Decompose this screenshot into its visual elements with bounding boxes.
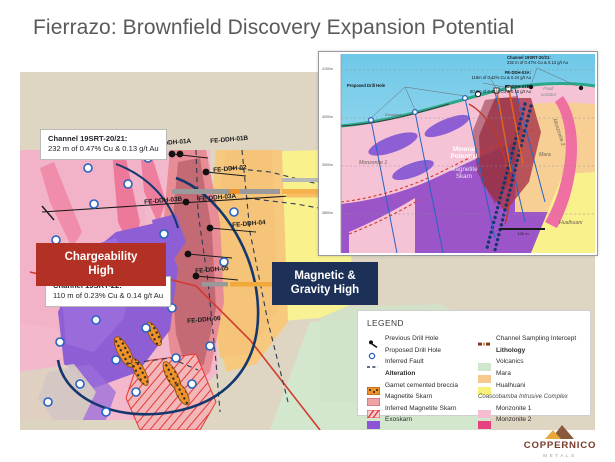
legend-item-proposed-drill-hole: Proposed Drill Hole [367,345,479,357]
axis-label-2: 3900m [322,163,333,167]
legend-label: Magnetite Skarn [385,393,432,400]
mountain-icon [538,424,582,440]
legend-item-garnet-cemented-breccia: Garnet cemented breccia [367,379,479,391]
badge-line-1: Magnetic & [294,270,355,282]
legend-item-magnetite-skarn: Magnetite Skarn [367,391,479,403]
badge-magnetic-gravity-high: Magnetic & Gravity High [272,262,378,305]
legend-label: Previous Drill Hole [385,335,438,342]
badge-line-2: Gravity High [291,284,359,296]
legend-label: Channel Sampling Intercept [496,335,576,342]
legend-item-inferred-fault: Inferred Fault [367,356,479,368]
legend-label: Monzonite 1 [496,405,531,412]
legend-heading: LEGEND [367,318,404,328]
legend-label: Garnet cemented breccia [385,382,458,389]
inset-unit-exoskarn: Exoskarn [385,112,402,117]
legend-label: Lithology [496,347,525,354]
legend-column-left: Previous Drill Hole Proposed Drill Hole … [367,333,479,426]
slide-root: Fierrazo: Brownfield Discovery Expansion… [0,0,615,462]
logo-name: COPPERNICO [520,441,600,451]
inset-scale-bar: 100 m [499,228,547,236]
inset-unit-hualhuani: Hualhuani [559,220,582,226]
badge-chargeability-high: Chargeability High [36,243,166,286]
legend-label: Alteration [385,370,415,377]
magnetite-swatch-icon [367,393,380,400]
callout-channel-19srt-20-21[interactable]: Channel 19SRT-20/21: 232 m of 0.47% Cu &… [40,129,167,160]
intercept-value: 50.8m of 0.44% Cu & 0.15 g/t Au [395,89,531,94]
volcanics-swatch-icon [478,358,491,365]
spacer [478,347,491,354]
logo-subtitle: METALS [520,453,600,458]
axis-label-0: 4100m [322,67,333,71]
callout-value: 110 m of 0.23% Cu & 0.14 g/t Au [53,291,163,301]
inset-proposed-drill-hole-label: Proposed Drill Hole [347,83,385,88]
inset-scale-bar-label: 100 m [499,231,547,236]
legend-label: Monzonite 2 [496,416,531,423]
legend-item-exoskarn: Exoskarn [367,414,479,426]
legend-label: Volcanics [496,358,523,365]
inset-intercept-fe-ddh-03a: FE-DDH-03A: 116m of 0.42% Cu & 0.24 g/t … [411,70,531,80]
inset-scale-bar-line [499,228,545,230]
legend-panel: LEGEND Previous Drill Hole Proposed Dril… [357,310,591,416]
mara-swatch-icon [478,370,491,377]
legend-header-alteration: Alteration [367,368,479,380]
legend-label: Exoskarn [385,416,412,423]
monzonite1-swatch-icon [478,405,491,412]
inset-magnetite-skarn-label: Magnetite Skarn [437,166,491,180]
channel-intercept-icon [478,335,491,342]
legend-item-channel-sampling-intercept: Channel Sampling Intercept [478,333,590,345]
dashed-line-icon [367,358,380,365]
legend-item-hualhuani: Hualhuani [478,379,590,391]
inset-fault-contact-label: Fault contact [541,86,556,97]
monzonite2-swatch-icon [478,416,491,423]
inset-unit-mara: Mara [539,152,551,158]
page-title: Fierrazo: Brownfield Discovery Expansion… [33,16,514,40]
badge-line-2: High [88,265,114,277]
inset-unit-monzonite-1: Monzonite 1 [359,160,387,166]
hatch-swatch-icon [367,405,380,412]
circle-icon [367,347,380,354]
legend-label: Inferred Magnetite Skarn [385,405,457,412]
axis-label-3: 3800m [322,211,333,215]
company-logo: COPPERNICO METALS [520,424,600,458]
legend-label: Mara [496,370,511,377]
legend-label: Inferred Fault [385,358,424,365]
legend-item-volcanics: Volcanics [478,356,590,368]
garnet-swatch-icon [367,382,380,389]
legend-label: Hualhuani [496,382,525,389]
legend-label: Proposed Drill Hole [385,347,441,354]
legend-item-monzonite-1: Monzonite 1 [478,403,590,415]
inset-mineral-potential-label: Mineral Potential [437,146,491,161]
exoskarn-swatch-icon [367,416,380,423]
inset-intercept-fe-ddh-03b: FE-DDH-03B: 50.8m of 0.44% Cu & 0.15 g/t… [395,84,531,94]
callout-value: 232 m of 0.47% Cu & 0.13 g/t Au [48,144,159,154]
inset-intercept-channel-19srt: Channel 19SRT-20/21: 232 m of 0.47% Cu &… [507,55,568,65]
axis-label-1: 4000m [322,115,333,119]
intercept-value: 232 m of 0.47% Cu & 0.13 g/t Au [507,60,568,65]
callout-title: Channel 19SRT-20/21: [48,134,159,144]
legend-label: Coascobamba Intrusive Complex [478,393,568,400]
legend-column-right: Channel Sampling Intercept Lithology Vol… [478,333,590,426]
legend-item-inferred-magnetite-skarn: Inferred Magnetite Skarn [367,403,479,415]
legend-header-coascobamba: Coascobamba Intrusive Complex [478,391,590,403]
badge-line-1: Chargeability [65,251,138,263]
intercept-value: 116m of 0.42% Cu & 0.24 g/t Au [411,75,531,80]
hualhuani-swatch-icon [478,382,491,389]
legend-item-previous-drill-hole: Previous Drill Hole [367,333,479,345]
drill-hole-icon [367,335,380,342]
cross-section-inset[interactable]: 4100m 4000m 3900m 3800m Proposed Drill H… [318,51,598,256]
legend-header-lithology: Lithology [478,345,590,357]
legend-item-mara: Mara [478,368,590,380]
spacer [367,370,380,377]
